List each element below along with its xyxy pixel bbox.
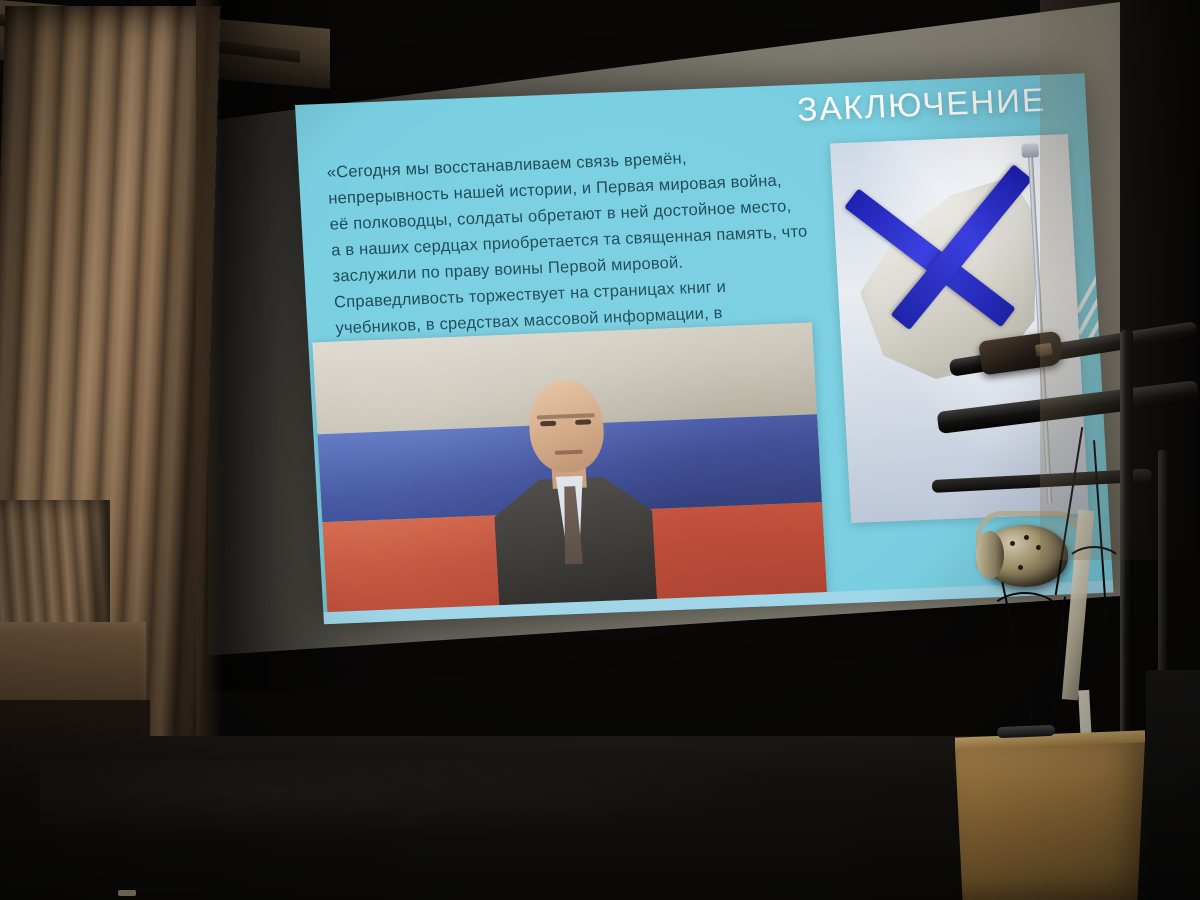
power-cable-loop: [988, 592, 1062, 640]
floor-reflection: [40, 760, 800, 840]
slide-title: ЗАКЛЮЧЕНИЕ: [796, 81, 1047, 129]
head: [527, 379, 606, 474]
lighting-truss-bar-middle: [937, 380, 1200, 434]
power-cable-loop: [1064, 546, 1124, 588]
cloth-covered-table: [955, 738, 1145, 900]
floor-debris: [118, 890, 136, 896]
auditorium-scene: ЗАКЛЮЧЕНИЕ «Сегодня мы восстанавливаем с…: [0, 0, 1200, 900]
left-eye: [540, 421, 556, 427]
putin-figure: [483, 371, 662, 607]
par-can-spotlight: [974, 515, 1074, 593]
curtain-shadow-edge: [196, 0, 222, 790]
floor-debris: [42, 780, 48, 785]
right-eye: [575, 419, 591, 425]
flag-pole-finial: [1021, 143, 1039, 158]
lighting-truss-bar-lower: [932, 468, 1152, 492]
putin-russian-flag-photo: [312, 322, 827, 614]
par-can-lens-rim: [976, 531, 1004, 579]
moving-head-fixture: [978, 330, 1064, 375]
equipment-case: [1146, 670, 1200, 900]
